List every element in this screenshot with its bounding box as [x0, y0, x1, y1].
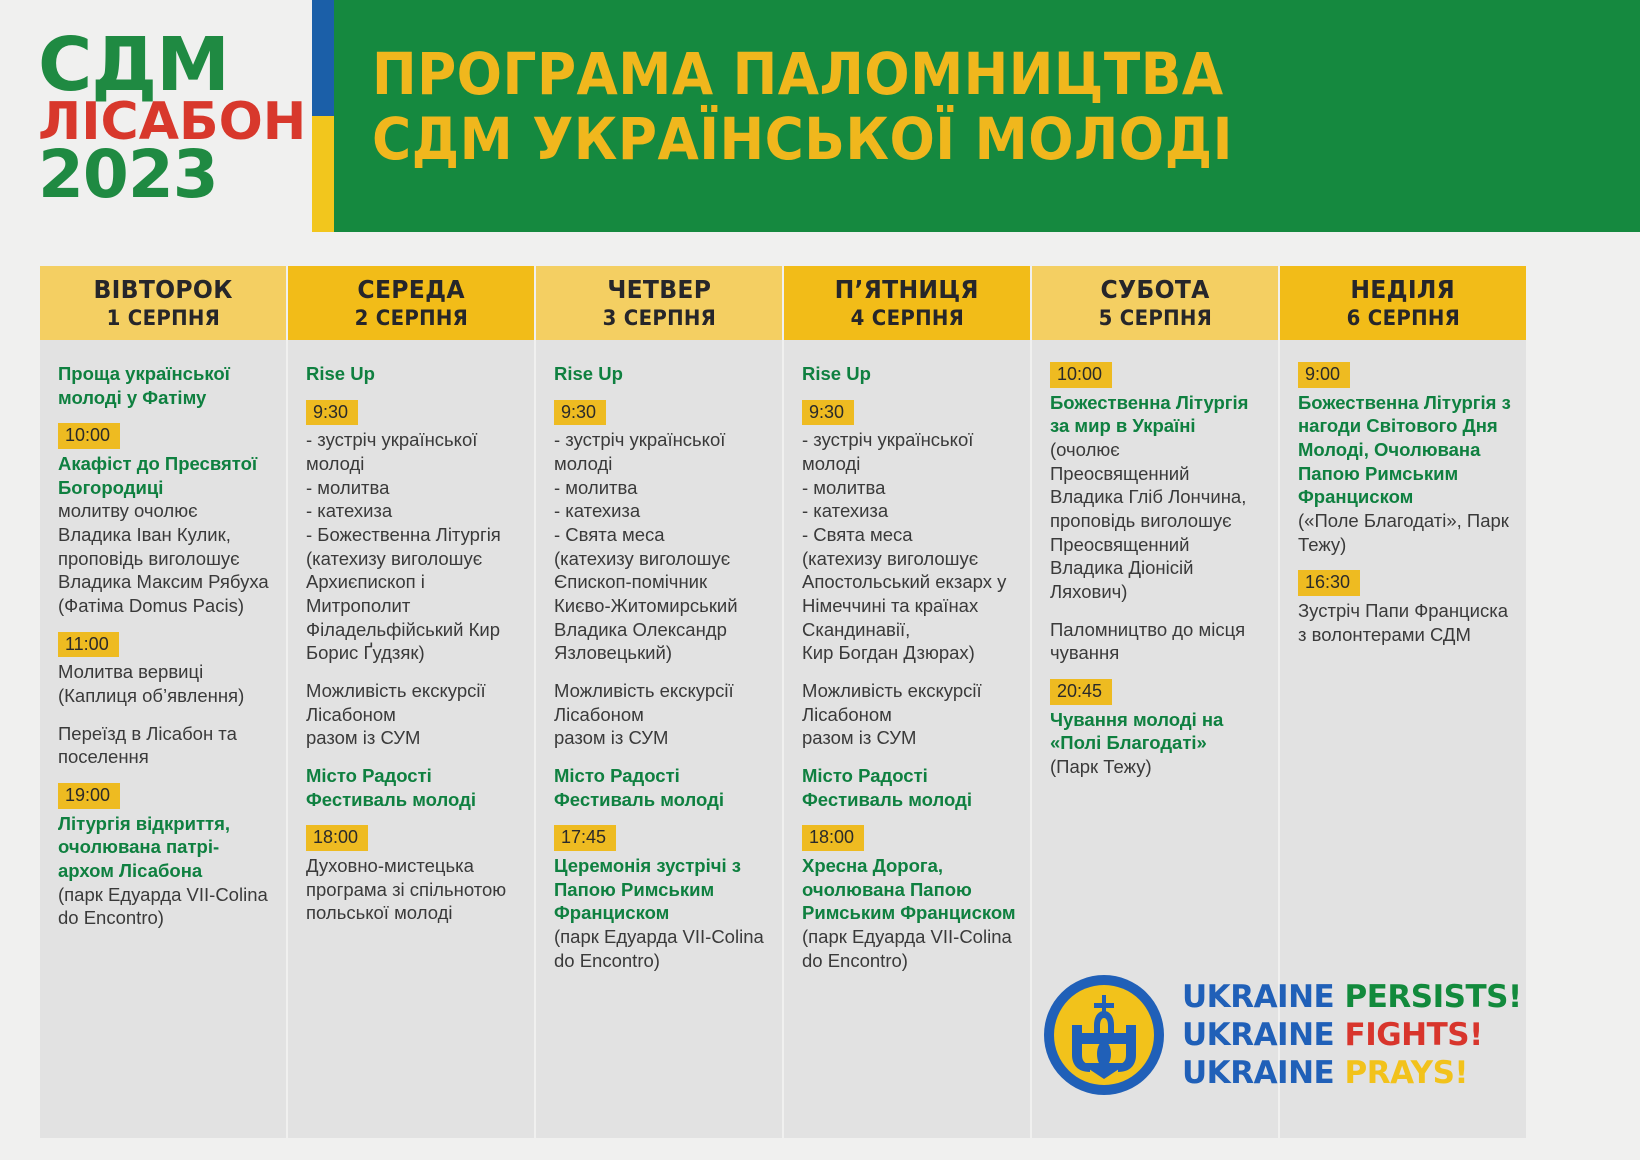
day-events-list: Проща української молоді у Фатіму10:00Ак… — [40, 340, 286, 1138]
event-title: Божественна Літургія з нагоди Світового … — [1298, 391, 1512, 509]
event-description: Зустріч Папи Франциска з волонтерами СДМ — [1298, 599, 1512, 646]
event-description: Молитва вервиці (Каплиця об’явлення) — [58, 660, 272, 707]
event-title: Чування молоді на «Полі Благодаті» — [1050, 708, 1264, 755]
event-time-badge: 11:00 — [58, 632, 119, 658]
slogan-line-2-prefix: UKRAINE — [1182, 1017, 1345, 1053]
event-description: Можливість екскурсії Лісабоном разом із … — [802, 679, 1016, 750]
event-description: (парк Едуарда VII-Colina do Encontro) — [802, 925, 1016, 972]
schedule-event: Місто Радості Фестиваль молоді — [306, 764, 520, 811]
day-of-week-label: ЧЕТВЕР — [607, 277, 711, 304]
slogan-line-3: UKRAINE PRAYS! — [1182, 1054, 1522, 1092]
event-description: (парк Едуарда VII-Colina do Encontro) — [554, 925, 768, 972]
day-header: СЕРЕДА2 СЕРПНЯ — [288, 266, 534, 340]
flag-yellow-stripe — [312, 116, 334, 232]
schedule-event: Місто Радості Фестиваль молоді — [802, 764, 1016, 811]
schedule-event: 16:30Зустріч Папи Франциска з волонтерам… — [1298, 570, 1512, 646]
event-description: (Парк Тежу) — [1050, 755, 1264, 779]
logo-line-year: 2023 — [38, 147, 218, 204]
ukrainian-trident-cross-emblem — [1040, 971, 1168, 1099]
ukraine-flag-bar — [312, 0, 334, 232]
event-description: Паломництво до місця чування — [1050, 618, 1264, 665]
event-time-badge: 17:45 — [554, 825, 616, 851]
schedule-event: 18:00Хресна Дорога, очолювана Папою Римс… — [802, 825, 1016, 972]
day-date-label: 2 СЕРПНЯ — [354, 307, 468, 329]
day-of-week-label: НЕДІЛЯ — [1351, 277, 1456, 304]
schedule-event: Rise Up — [802, 362, 1016, 386]
day-date-label: 3 СЕРПНЯ — [602, 307, 716, 329]
day-header: СУБОТА5 СЕРПНЯ — [1032, 266, 1278, 340]
day-date-label: 5 СЕРПНЯ — [1098, 307, 1212, 329]
schedule-event: 9:00Божественна Літургія з нагоди Світов… — [1298, 362, 1512, 556]
slogan-line-1-prefix: UKRAINE — [1182, 979, 1345, 1015]
event-time-badge: 18:00 — [802, 825, 864, 851]
page-title-line-1: ПРОГРАМА ПАЛОМНИЦТВА — [372, 42, 1476, 107]
event-title: Божественна Літургія за мир в Україні — [1050, 391, 1264, 438]
event-time-badge: 9:00 — [1298, 362, 1350, 388]
day-header: ЧЕТВЕР3 СЕРПНЯ — [536, 266, 782, 340]
event-time-badge: 16:30 — [1298, 570, 1360, 596]
event-time-badge: 9:30 — [554, 400, 606, 426]
schedule-event: 10:00Божественна Літургія за мир в Украї… — [1050, 362, 1264, 604]
day-of-week-label: СЕРЕДА — [357, 277, 464, 304]
slogan-text: UKRAINE PERSISTS! UKRAINE FIGHTS! UKRAIN… — [1182, 978, 1522, 1092]
schedule-event: Rise Up — [306, 362, 520, 386]
day-events-list: 9:00Божественна Літургія з нагоди Світов… — [1280, 340, 1526, 676]
slogan-line-2-accent: FIGHTS! — [1345, 1017, 1483, 1053]
event-description: - зустріч української молоді - молитва -… — [554, 428, 768, 665]
event-time-badge: 9:30 — [802, 400, 854, 426]
day-events-list: Rise Up9:30- зустріч української молоді … — [288, 340, 534, 1138]
day-date-label: 6 СЕРПНЯ — [1346, 307, 1460, 329]
event-title: Акафіст до Пресвятої Богородиці — [58, 452, 272, 499]
schedule-event: 19:00Літургія відкриття, очолювана патрі… — [58, 783, 272, 930]
event-time-badge: 18:00 — [306, 825, 368, 851]
logo-line-sdm: СДМ — [38, 34, 229, 98]
page-title-line-2: СДМ УКРАЇНСЬКОЇ МОЛОДІ — [372, 107, 1476, 172]
slogan-line-1: UKRAINE PERSISTS! — [1182, 978, 1522, 1016]
wyd-lisbon-logo: СДМ ЛІСАБОН 2023 — [38, 24, 310, 214]
schedule-event: Місто Радості Фестиваль молоді — [554, 764, 768, 811]
event-title: Rise Up — [802, 362, 1016, 386]
event-title: Місто Радості Фестиваль молоді — [306, 764, 520, 811]
schedule-event: 20:45Чування молоді на «Полі Благодаті»(… — [1050, 679, 1264, 779]
schedule-event: Можливість екскурсії Лісабоном разом із … — [306, 679, 520, 750]
event-description: молитву очолює Владика Іван Кулик, пропо… — [58, 499, 272, 617]
schedule-event: 17:45Церемонія зустрічі з Папою Римським… — [554, 825, 768, 972]
event-time-badge: 20:45 — [1050, 679, 1112, 705]
day-column: ВІВТОРОК1 СЕРПНЯПроща української молоді… — [40, 266, 286, 1138]
day-column: ЧЕТВЕР3 СЕРПНЯRise Up9:30- зустріч украї… — [536, 266, 782, 1138]
day-date-label: 1 СЕРПНЯ — [106, 307, 220, 329]
slogan-line-1-accent: PERSISTS! — [1345, 979, 1522, 1015]
event-description: («Поле Благодаті», Парк Тежу) — [1298, 509, 1512, 556]
slogan-line-2: UKRAINE FIGHTS! — [1182, 1016, 1522, 1054]
event-time-badge: 19:00 — [58, 783, 120, 809]
day-header: ВІВТОРОК1 СЕРПНЯ — [40, 266, 286, 340]
event-description: Переїзд в Лісабон та поселення — [58, 722, 272, 769]
day-column: П’ЯТНИЦЯ4 СЕРПНЯRise Up9:30- зустріч укр… — [784, 266, 1030, 1138]
day-of-week-label: П’ЯТНИЦЯ — [835, 277, 979, 304]
schedule-event: 9:30- зустріч української молоді - молит… — [802, 400, 1016, 665]
event-title: Місто Радості Фестиваль молоді — [554, 764, 768, 811]
schedule-event: Можливість екскурсії Лісабоном разом із … — [554, 679, 768, 750]
event-description: (очолює Преосвященний Владика Гліб Лончи… — [1050, 438, 1264, 604]
event-title: Проща української молоді у Фатіму — [58, 362, 272, 409]
day-of-week-label: ВІВТОРОК — [93, 277, 232, 304]
slogan-line-3-prefix: UKRAINE — [1182, 1055, 1345, 1091]
event-title: Rise Up — [306, 362, 520, 386]
event-title: Літургія відкриття, очолювана патрі-архо… — [58, 812, 272, 883]
schedule-event: 9:30- зустріч української молоді - молит… — [554, 400, 768, 665]
schedule-event: 10:00Акафіст до Пресвятої Богородицімоли… — [58, 423, 272, 617]
day-header: П’ЯТНИЦЯ4 СЕРПНЯ — [784, 266, 1030, 340]
schedule-event: Rise Up — [554, 362, 768, 386]
day-events-list: Rise Up9:30- зустріч української молоді … — [536, 340, 782, 1138]
page-title: ПРОГРАМА ПАЛОМНИЦТВА СДМ УКРАЇНСЬКОЇ МОЛ… — [372, 42, 1476, 172]
event-description: (парк Едуарда VII-Colina do Encontro) — [58, 883, 272, 930]
flag-blue-stripe — [312, 0, 334, 116]
day-date-label: 4 СЕРПНЯ — [850, 307, 964, 329]
event-description: Можливість екскурсії Лісабоном разом із … — [306, 679, 520, 750]
day-events-list: Rise Up9:30- зустріч української молоді … — [784, 340, 1030, 1138]
event-time-badge: 10:00 — [1050, 362, 1112, 388]
event-time-badge: 9:30 — [306, 400, 358, 426]
event-description: - зустріч української молоді - молитва -… — [306, 428, 520, 665]
schedule-event: Переїзд в Лісабон та поселення — [58, 722, 272, 769]
title-banner: ПРОГРАМА ПАЛОМНИЦТВА СДМ УКРАЇНСЬКОЇ МОЛ… — [334, 0, 1640, 232]
event-title: Місто Радості Фестиваль молоді — [802, 764, 1016, 811]
ukraine-slogan-block: UKRAINE PERSISTS! UKRAINE FIGHTS! UKRAIN… — [1040, 940, 1600, 1130]
day-events-list: 10:00Божественна Літургія за мир в Украї… — [1032, 340, 1278, 809]
event-time-badge: 10:00 — [58, 423, 120, 449]
schedule-event: 18:00Духовно-мистецька програма зі спіль… — [306, 825, 520, 925]
day-of-week-label: СУБОТА — [1100, 277, 1209, 304]
slogan-line-3-accent: PRAYS! — [1345, 1055, 1469, 1091]
event-description: Можливість екскурсії Лісабоном разом із … — [554, 679, 768, 750]
schedule-event: Можливість екскурсії Лісабоном разом із … — [802, 679, 1016, 750]
event-description: Духовно-мистецька програма зі спільнотою… — [306, 854, 520, 925]
schedule-event: Проща української молоді у Фатіму — [58, 362, 272, 409]
schedule-event: 11:00Молитва вервиці (Каплиця об’явлення… — [58, 632, 272, 708]
event-title: Rise Up — [554, 362, 768, 386]
day-column: СЕРЕДА2 СЕРПНЯRise Up9:30- зустріч украї… — [288, 266, 534, 1138]
event-description: - зустріч української молоді - молитва -… — [802, 428, 1016, 665]
schedule-event: Паломництво до місця чування — [1050, 618, 1264, 665]
event-title: Церемонія зустрічі з Папою Римським Фран… — [554, 854, 768, 925]
page-header: СДМ ЛІСАБОН 2023 ПРОГРАМА ПАЛОМНИЦТВА СД… — [0, 0, 1640, 232]
day-header: НЕДІЛЯ6 СЕРПНЯ — [1280, 266, 1526, 340]
event-title: Хресна Дорога, очолювана Папою Римським … — [802, 854, 1016, 925]
schedule-event: 9:30- зустріч української молоді - молит… — [306, 400, 520, 665]
